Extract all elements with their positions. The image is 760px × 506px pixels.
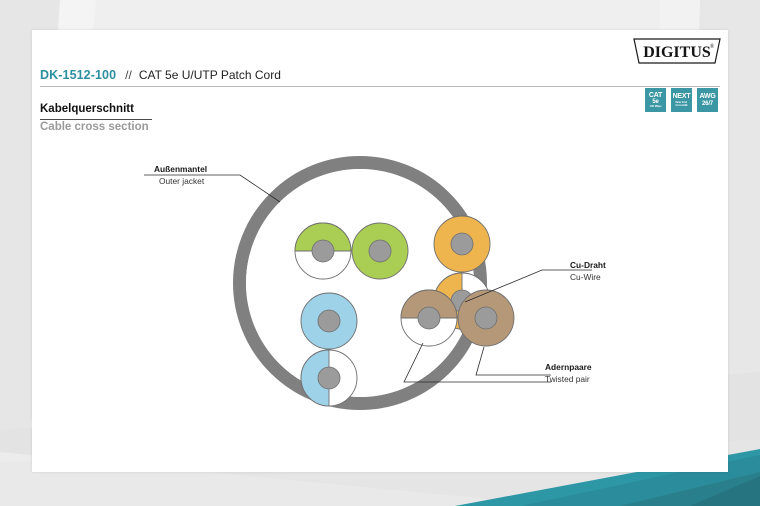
copper-core	[318, 310, 340, 332]
callout-twisted-pair-label-en: Twisted pair	[545, 374, 590, 384]
brown-solid-wire	[458, 290, 514, 346]
green-white-wire	[295, 223, 351, 279]
callout-outer-jacket-label-en: Outer jacket	[159, 176, 205, 186]
copper-core	[312, 240, 334, 262]
copper-core	[418, 307, 440, 329]
callout-cu-wire-label-de: Cu-Draht	[570, 260, 606, 270]
blue-solid-wire	[301, 293, 357, 349]
green-solid-wire	[352, 223, 408, 279]
slide-canvas: DK-1512-100 // CAT 5e U/UTP Patch Cord K…	[0, 0, 760, 506]
callout-outer-jacket-label-de: Außenmantel	[154, 164, 207, 174]
brown-white-wire	[401, 290, 457, 346]
copper-core	[369, 240, 391, 262]
callout-cu-wire-label-en: Cu-Wire	[570, 272, 601, 282]
callout-twisted-pair-label-de: Adernpaare	[545, 362, 592, 372]
copper-core	[318, 367, 340, 389]
callout-outer-jacket: Außenmantel Outer jacket	[144, 164, 280, 202]
cable-cross-section-diagram: Außenmantel Outer jacket Cu-Draht Cu-Wir…	[32, 30, 728, 472]
leader-line-twisted-pair-b	[476, 347, 551, 375]
blue-white-wire	[301, 350, 357, 406]
copper-core	[451, 233, 473, 255]
copper-core	[475, 307, 497, 329]
orange-solid-wire	[434, 216, 490, 272]
